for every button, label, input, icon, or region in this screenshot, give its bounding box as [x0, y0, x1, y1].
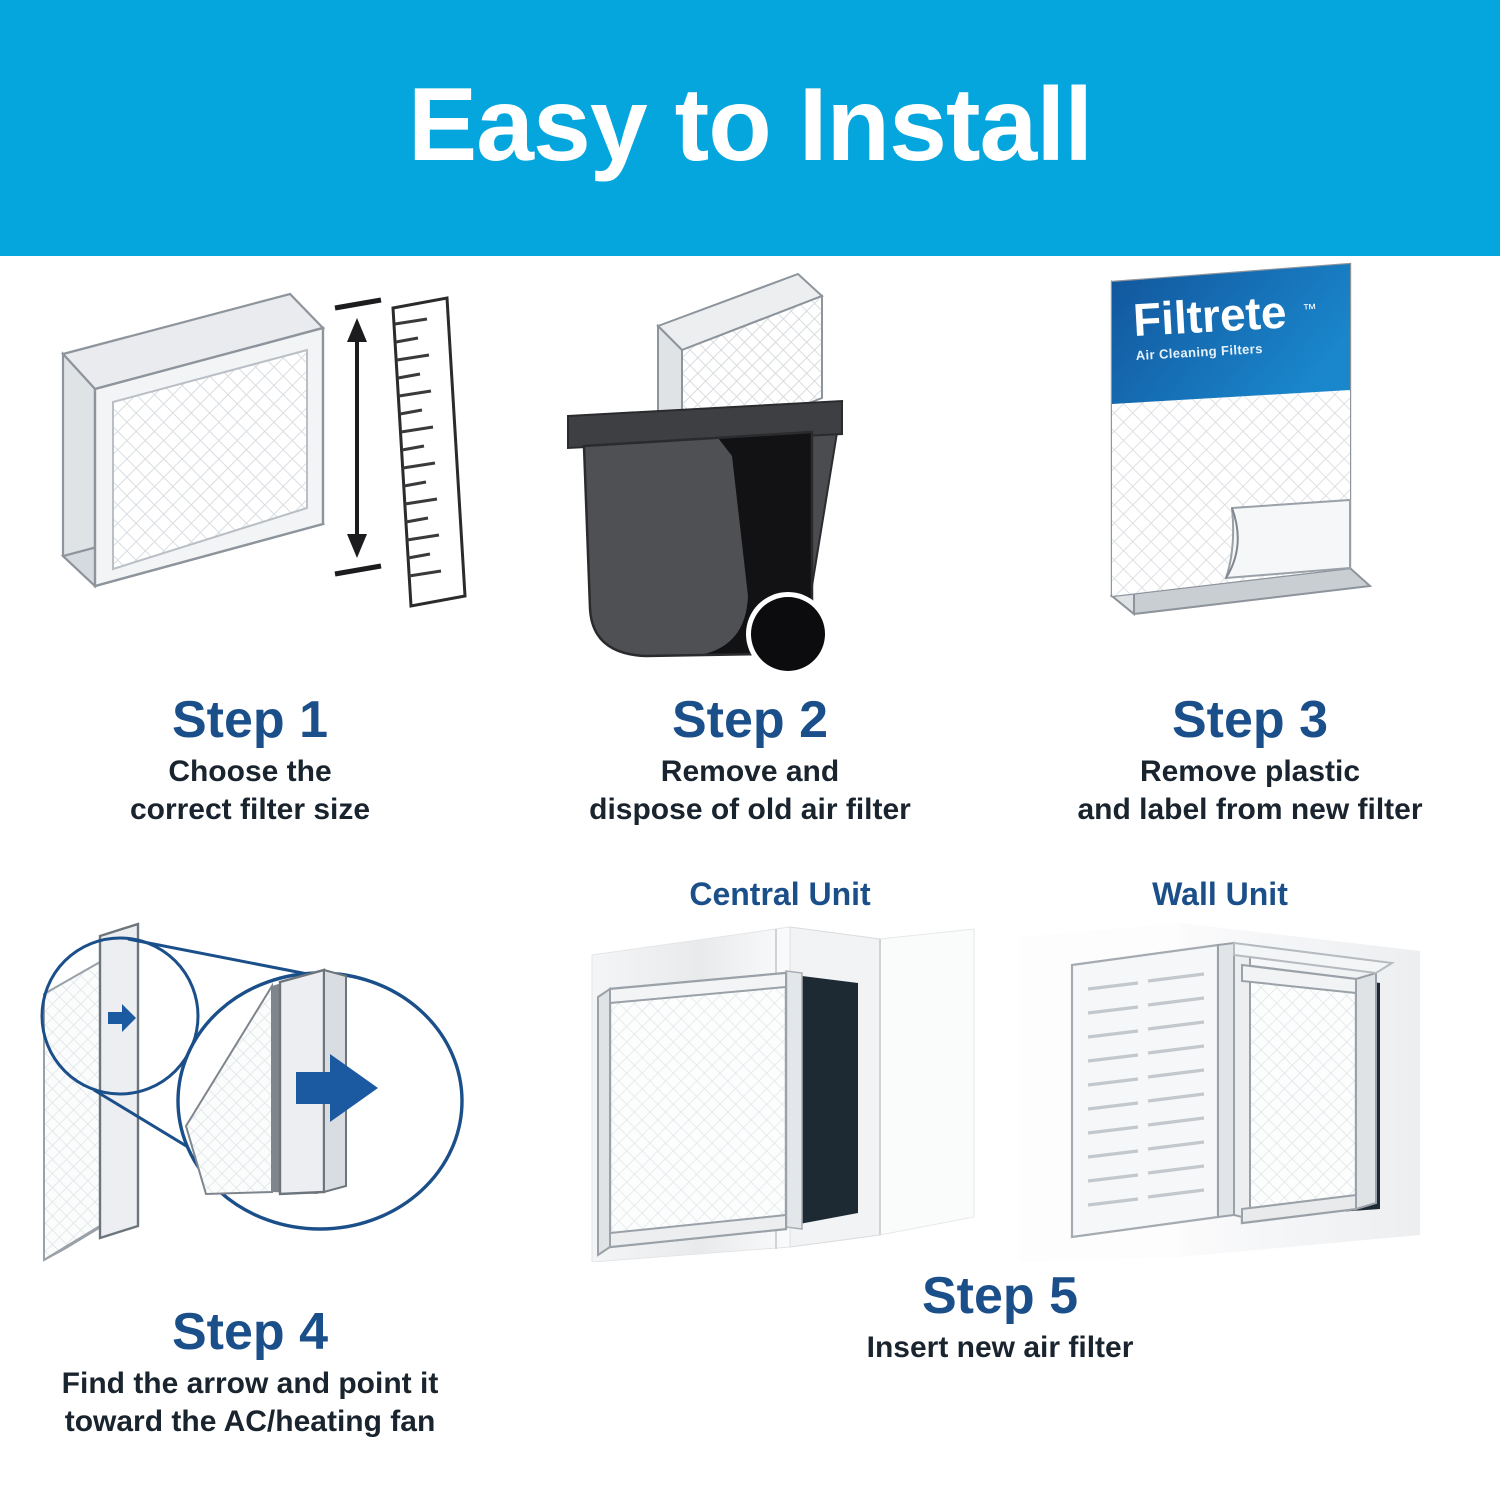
step-1-illustration [0, 256, 500, 686]
step-card-3: Filtrete ™ Air Cleaning Filters Step 3 R… [1000, 256, 1500, 876]
filter-panel-with-ruler-icon [35, 256, 465, 676]
steps-row-bottom: Step 4 Find the arrow and point it towar… [0, 876, 1500, 1500]
header-banner: Easy to Install [0, 0, 1500, 256]
step-5-units: Central Unit [500, 876, 1500, 1262]
filter-edge-arrow-magnifier-icon [10, 876, 490, 1276]
package-brand-text: Filtrete [1132, 286, 1288, 346]
step-1-title: Step 1 [172, 694, 328, 747]
steps-row-top: Step 1 Choose the correct filter size [0, 256, 1500, 876]
step-4-title: Step 4 [172, 1306, 328, 1359]
step-5-title: Step 5 [922, 1270, 1078, 1323]
wall-hvac-unit-icon [1020, 917, 1420, 1262]
step-4-illustration [0, 876, 500, 1306]
svg-text:™: ™ [1302, 300, 1317, 317]
central-unit-block: Central Unit [570, 876, 990, 1262]
steps-board: Step 1 Choose the correct filter size [0, 256, 1500, 1500]
step-2-description: Remove and dispose of old air filter [589, 753, 911, 828]
step-3-title: Step 3 [1172, 694, 1328, 747]
step-2-title: Step 2 [672, 694, 828, 747]
step-1-description: Choose the correct filter size [130, 753, 370, 828]
step-3-illustration: Filtrete ™ Air Cleaning Filters [1000, 256, 1500, 686]
step-card-1: Step 1 Choose the correct filter size [0, 256, 500, 876]
central-unit-label: Central Unit [689, 876, 870, 913]
central-hvac-unit-icon [580, 917, 980, 1262]
page-title: Easy to Install [408, 73, 1092, 177]
step-4-description: Find the arrow and point it toward the A… [62, 1365, 439, 1440]
step-5-description: Insert new air filter [867, 1329, 1134, 1367]
wall-unit-block: Wall Unit [1010, 876, 1430, 1262]
step-2-illustration [500, 256, 1000, 686]
step-card-4: Step 4 Find the arrow and point it towar… [0, 876, 500, 1500]
filtrete-package-icon: Filtrete ™ Air Cleaning Filters [1050, 256, 1450, 676]
step-card-2: Step 2 Remove and dispose of old air fil… [500, 256, 1000, 876]
trash-bin-with-filter-icon [550, 256, 950, 676]
wall-unit-label: Wall Unit [1152, 876, 1288, 913]
step-3-description: Remove plastic and label from new filter [1077, 753, 1422, 828]
step-card-5: Central Unit [500, 876, 1500, 1500]
